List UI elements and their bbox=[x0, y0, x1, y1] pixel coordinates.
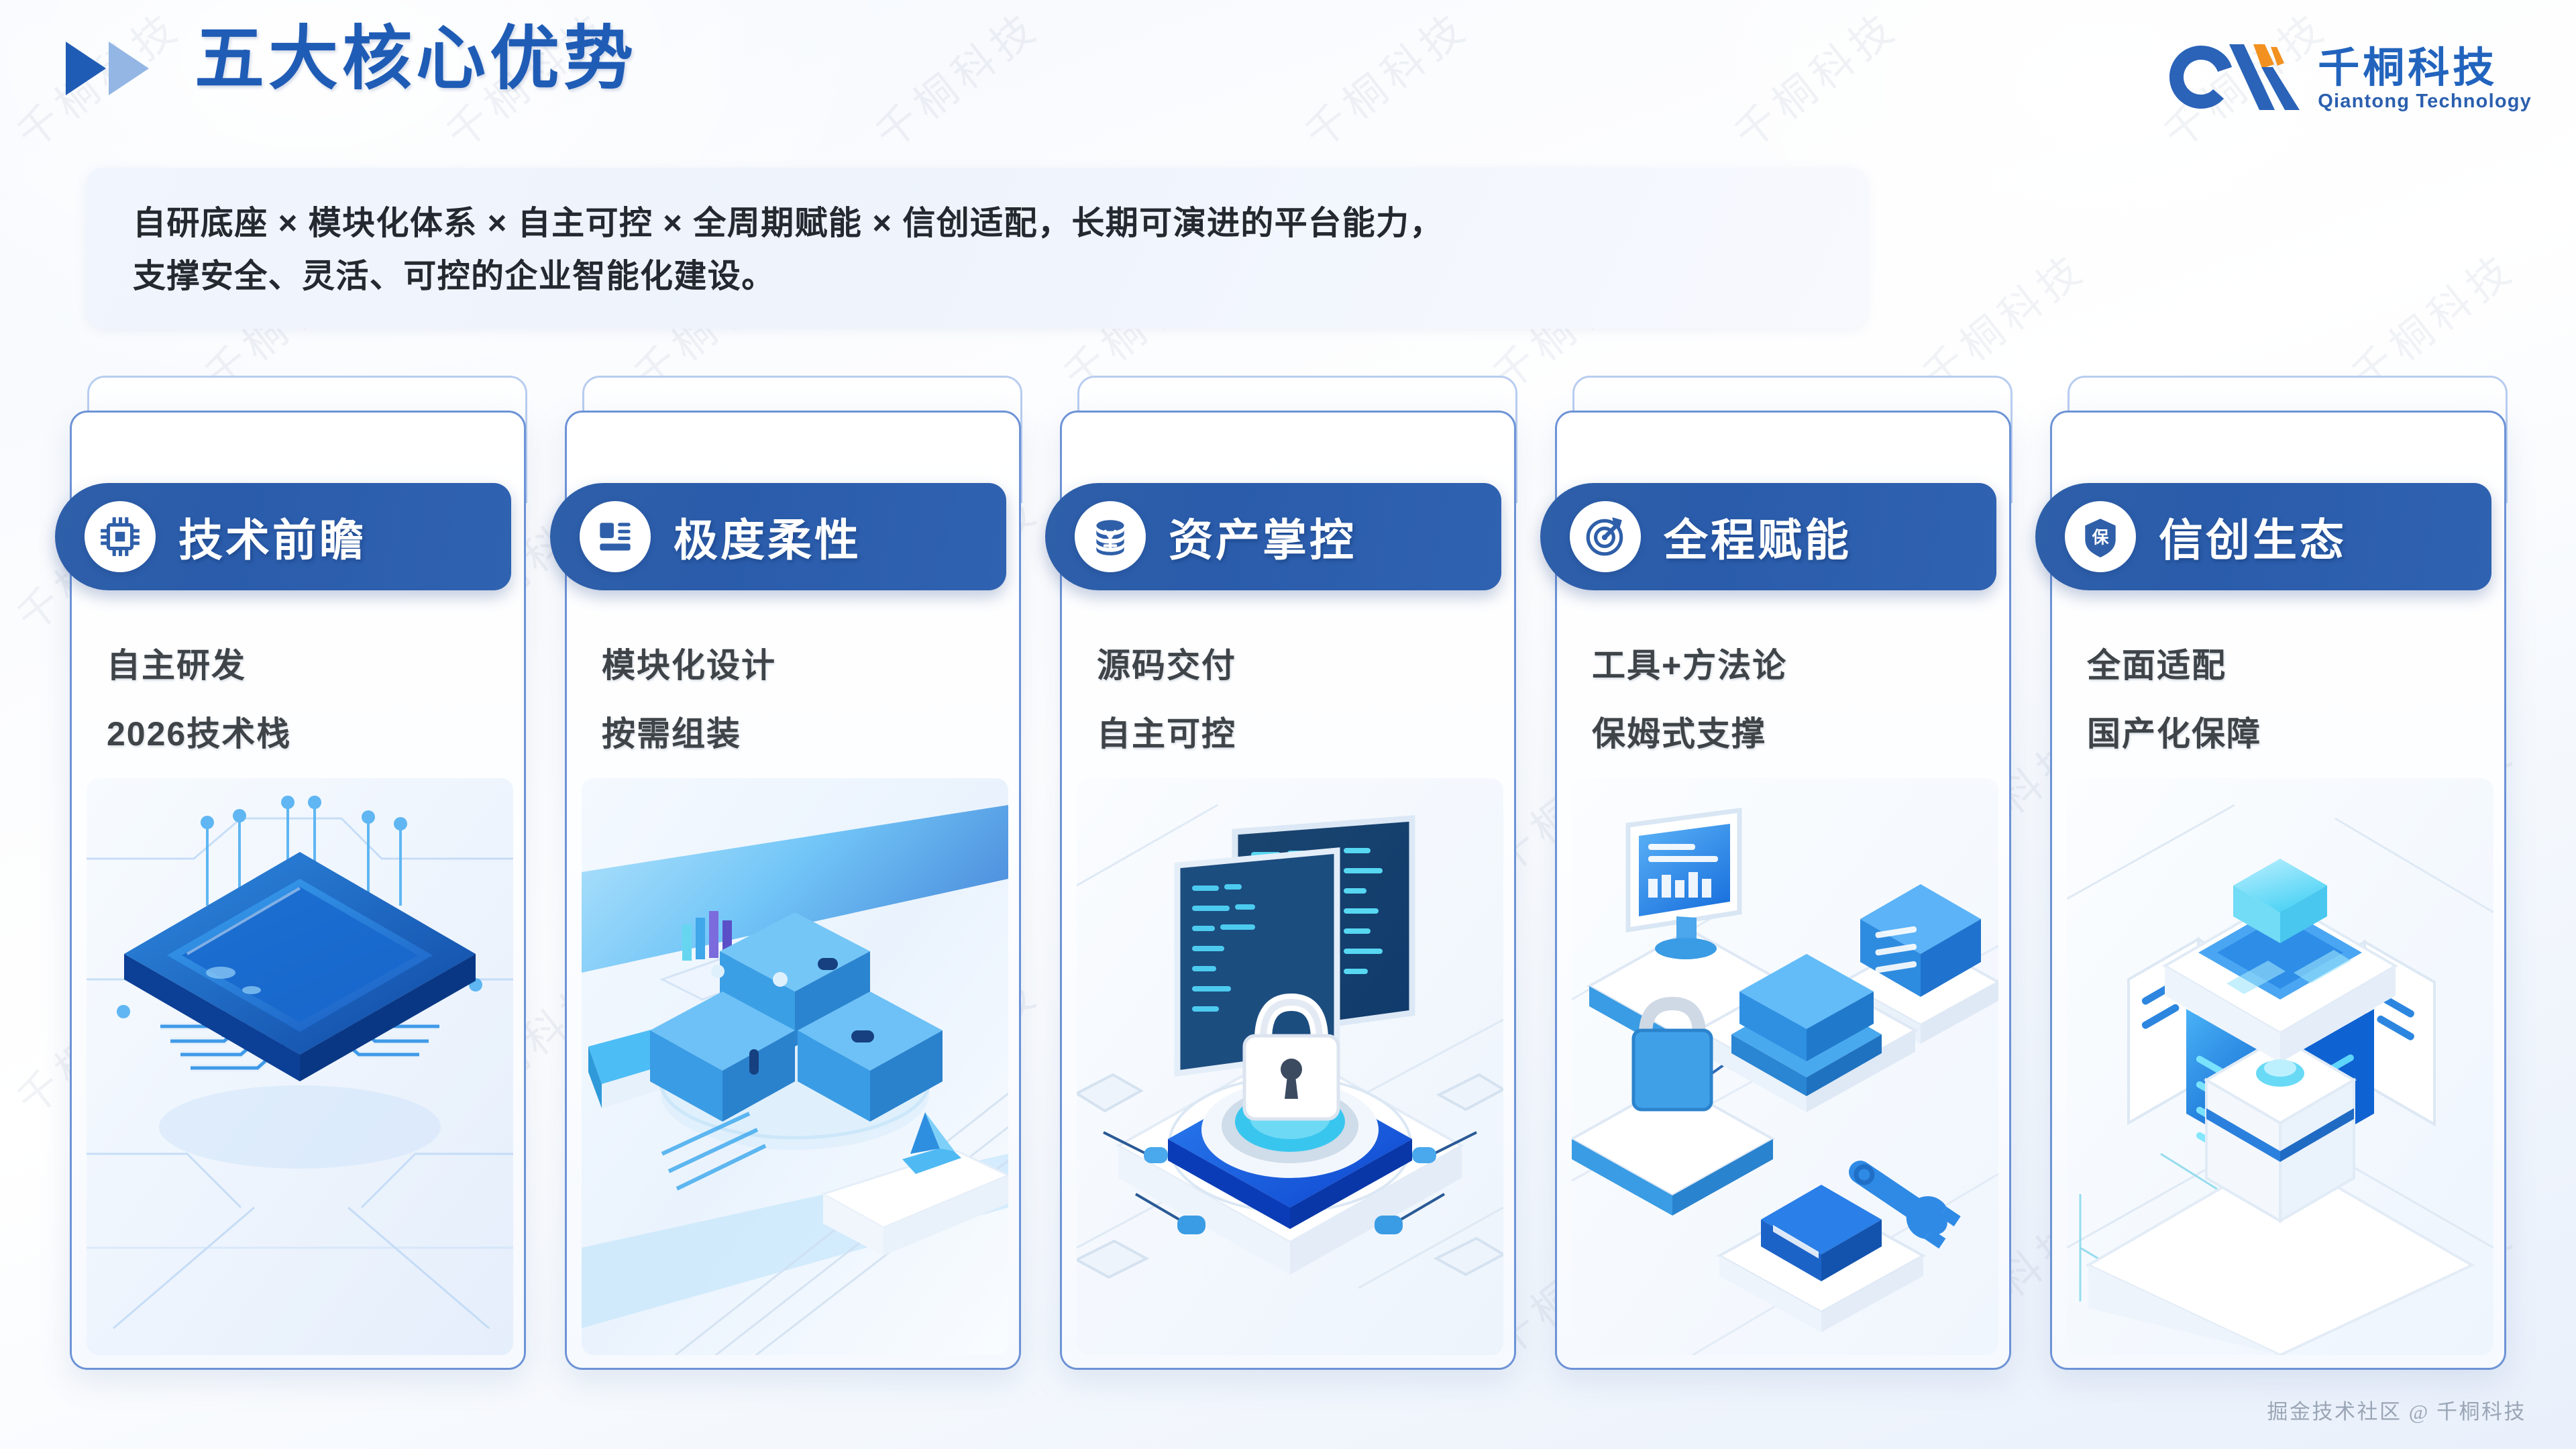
card-header-pill[interactable]: 技术前瞻 bbox=[55, 483, 511, 590]
toolchain-network-illustration bbox=[1572, 778, 1998, 1355]
advantage-card-1[interactable]: 自主研发 2026技术栈 技术前瞻 bbox=[70, 376, 526, 1382]
summary-line-2: 支撑安全、灵活、可控的企业智能化建设。 bbox=[133, 250, 1820, 303]
slide-header: 五大核心优势 千桐科技 Qiantong Technology bbox=[0, 0, 2576, 154]
logo-name-en: Qiantong Technology bbox=[2318, 92, 2532, 111]
coin-stack-yuan-icon bbox=[1075, 501, 1146, 572]
card-line: 全面适配 bbox=[2087, 649, 2473, 682]
watermark-text: 千桐科技 bbox=[861, 1443, 1050, 1449]
card-body: 模块化设计 按需组装 bbox=[567, 649, 1021, 786]
card-title: 极度柔性 bbox=[674, 504, 861, 569]
card-header-pill[interactable]: 极度柔性 bbox=[550, 483, 1006, 590]
double-chevron-right-icon bbox=[64, 39, 178, 98]
card-body: 工具+方法论 保姆式支撑 bbox=[1557, 649, 2011, 786]
card-line: 源码交付 bbox=[1097, 649, 1483, 682]
card-title: 资产掌控 bbox=[1169, 504, 1356, 569]
card-header-pill[interactable]: 保 信创生态 bbox=[2035, 483, 2491, 590]
watermark-text: 千桐科技 bbox=[431, 1443, 621, 1449]
card-header-pill[interactable]: 资产掌控 bbox=[1045, 483, 1501, 590]
footer-credit: 掘金技术社区 @ 千桐科技 bbox=[2267, 1395, 2526, 1425]
card-title: 信创生态 bbox=[2159, 504, 2347, 569]
card-title: 技术前瞻 bbox=[178, 504, 366, 569]
watermark-text: 千桐科技 bbox=[1719, 1443, 1909, 1449]
card-line: 2026技术栈 bbox=[107, 717, 493, 751]
shield-bao-icon: 保 bbox=[2065, 501, 2136, 572]
target-dart-icon bbox=[1570, 501, 1641, 572]
watermark-text: 千桐科技 bbox=[1290, 1443, 1479, 1449]
advantage-card-5[interactable]: 全面适配 国产化保障 保 信创生态 bbox=[2050, 376, 2506, 1382]
cpu-chip-icon bbox=[85, 501, 156, 572]
interlocking-cubes-illustration bbox=[582, 778, 1008, 1355]
watermark-text: 千桐科技 bbox=[2, 1443, 191, 1449]
cpu-chip-circuit-illustration bbox=[87, 778, 513, 1355]
page-title: 五大核心优势 bbox=[195, 21, 637, 97]
svg-text:保: 保 bbox=[2092, 528, 2110, 547]
card-line: 按需组装 bbox=[602, 717, 988, 751]
card-title: 全程赋能 bbox=[1664, 504, 1851, 569]
card-body: 源码交付 自主可控 bbox=[1062, 649, 1516, 786]
card-line: 模块化设计 bbox=[602, 649, 988, 682]
card-line: 自主研发 bbox=[107, 649, 493, 682]
modular-blocks-icon bbox=[580, 501, 651, 572]
card-body: 全面适配 国产化保障 bbox=[2052, 649, 2506, 786]
summary-line-1: 自研底座 × 模块化体系 × 自主可控 × 全周期赋能 × 信创适配，长期可演进… bbox=[133, 197, 1820, 250]
summary-banner: 自研底座 × 模块化体系 × 自主可控 × 全周期赋能 × 信创适配，长期可演进… bbox=[86, 168, 1867, 329]
advantage-card-2[interactable]: 模块化设计 按需组装 极度柔性 bbox=[565, 376, 1021, 1382]
datacenter-racks-illustration bbox=[2067, 778, 2493, 1355]
logo-name-cn: 千桐科技 bbox=[2318, 48, 2532, 89]
card-line: 保姆式支撑 bbox=[1592, 717, 1978, 751]
qiantong-qt-monogram-icon bbox=[2159, 35, 2300, 124]
advantage-card-4[interactable]: 工具+方法论 保姆式支撑 全程赋能 bbox=[1555, 376, 2011, 1382]
advantage-card-row: 自主研发 2026技术栈 技术前瞻 bbox=[0, 376, 2576, 1382]
card-line: 国产化保障 bbox=[2087, 717, 2473, 751]
watermark-text: 千桐科技 bbox=[2149, 1443, 2338, 1449]
card-header-pill[interactable]: 全程赋能 bbox=[1540, 483, 1996, 590]
advantage-card-3[interactable]: 源码交付 自主可控 资产掌控 bbox=[1060, 376, 1516, 1382]
card-body: 自主研发 2026技术栈 bbox=[72, 649, 526, 786]
card-line: 工具+方法论 bbox=[1592, 649, 1978, 682]
brand-logo: 千桐科技 Qiantong Technology bbox=[2159, 35, 2532, 124]
card-line: 自主可控 bbox=[1097, 717, 1483, 751]
padlock-code-platform-illustration bbox=[1077, 778, 1503, 1355]
